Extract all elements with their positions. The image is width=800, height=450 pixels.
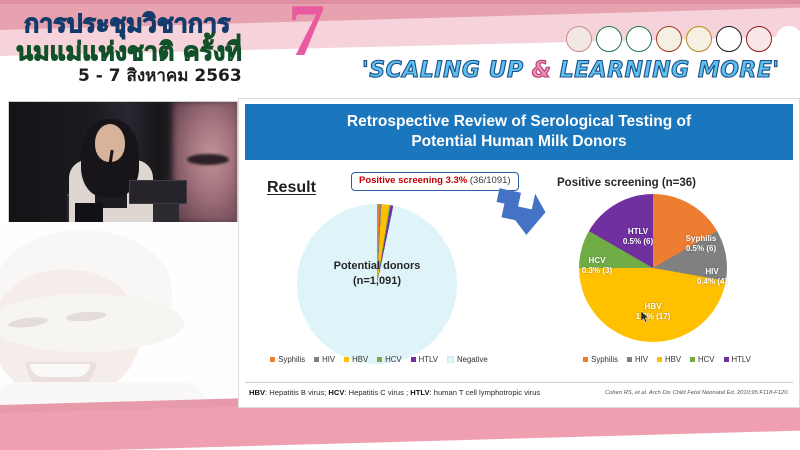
pie-label-hiv-name: HIV	[689, 267, 735, 277]
pie-label-syphilis-name: Syphilis	[673, 234, 729, 244]
legend-label-negative: Negative	[457, 355, 488, 364]
presentation-slide: Retrospective Review of Serological Test…	[238, 98, 800, 408]
pie-label-htlv-value: 0.5% (6)	[613, 237, 663, 247]
logo-medical-council	[746, 26, 772, 52]
potential-donors-legend: SyphilisHIVHBVHCVHTLVNegative	[263, 355, 495, 364]
pie-label-hcv: HCV 0.3% (3)	[575, 256, 619, 276]
donors-legend-item-syphilis: Syphilis	[270, 355, 305, 364]
logo-royal-emblem	[686, 26, 712, 52]
legend-swatch-hiv	[314, 357, 319, 362]
positive-legend-item-htlv: HTLV	[724, 355, 751, 364]
pie-label-hiv: HIV 0.4% (4)	[689, 267, 735, 287]
tagline-ampersand: &	[532, 58, 552, 83]
video-blurred-face-detail	[187, 154, 229, 165]
potential-donors-label-line1: Potential donors	[297, 259, 457, 274]
pie-label-hcv-name: HCV	[575, 256, 619, 266]
callout-sub-text: (36/1091)	[467, 175, 510, 186]
positive-legend-item-syphilis: Syphilis	[583, 355, 618, 364]
pie-label-htlv: HTLV 0.5% (6)	[613, 227, 663, 247]
donors-legend-item-negative: Negative	[447, 355, 488, 364]
logo-ministry-of-public-health	[596, 26, 622, 52]
positive-legend-item-hbv: HBV	[657, 355, 681, 364]
slide-footnote: HBV: Hepatitis B virus; HCV: Hepatitis C…	[245, 382, 793, 402]
logo-department-of-health	[626, 26, 652, 52]
donors-legend-item-htlv: HTLV	[411, 355, 438, 364]
slide-title-line1: Retrospective Review of Serological Test…	[347, 112, 691, 132]
legend-label-hiv: HIV	[322, 355, 335, 364]
result-heading: Result	[267, 179, 316, 197]
legend-label-hbv: HBV	[352, 355, 368, 364]
citation-note: Cohen RS, et al. Arch Dis Child Fetal Ne…	[605, 390, 789, 396]
positive-screening-chart-title: Positive screening (n=36)	[557, 177, 787, 189]
logo-thai-breastfeeding-foundation	[566, 26, 592, 52]
legend-label-syphilis: Syphilis	[591, 355, 618, 364]
legend-label-hcv: HCV	[385, 355, 401, 364]
mouse-cursor	[641, 311, 649, 323]
logo-nursing-council	[716, 26, 742, 52]
conference-tagline: 'SCALING UP & LEARNING MORE'	[362, 58, 780, 83]
slide-screenshot: การประชุมวิชาการ นมแม่แห่งชาติ ครั้งที่ …	[0, 0, 800, 450]
pie-label-hiv-value: 0.4% (4)	[689, 277, 735, 287]
legend-label-syphilis: Syphilis	[278, 355, 305, 364]
positive-legend-item-hcv: HCV	[690, 355, 714, 364]
potential-donors-center-label: Potential donors (n=1,091)	[297, 259, 457, 289]
tagline-part2: LEARNING MORE'	[551, 58, 779, 83]
photo-fade-overlay	[0, 222, 252, 427]
donors-legend-item-hcv: HCV	[377, 355, 401, 364]
legend-swatch-hiv	[627, 357, 632, 362]
baby-watermark-photo	[0, 222, 252, 427]
logo-royal-college	[656, 26, 682, 52]
speaker-video-inset[interactable]	[8, 101, 238, 223]
slide-title-banner: Retrospective Review of Serological Test…	[245, 104, 793, 160]
tagline-part1: 'SCALING UP	[362, 58, 532, 83]
slide-title-line2: Potential Human Milk Donors	[411, 132, 626, 152]
potential-donors-label-line2: (n=1,091)	[297, 274, 457, 289]
conference-header-banner: การประชุมวิชาการ นมแม่แห่งชาติ ครั้งที่ …	[0, 0, 800, 95]
pie-label-hbv-name: HBV	[627, 302, 679, 312]
legend-swatch-htlv	[411, 357, 416, 362]
conference-edition-number: 7	[288, 0, 325, 68]
positive-legend-item-hiv: HIV	[627, 355, 648, 364]
legend-label-htlv: HTLV	[419, 355, 438, 364]
podium-panel-shape	[75, 203, 103, 222]
legend-swatch-hcv	[690, 357, 695, 362]
legend-label-hcv: HCV	[698, 355, 714, 364]
legend-swatch-negative	[447, 356, 454, 363]
pie-label-syphilis: Syphilis 0.5% (6)	[673, 234, 729, 254]
laptop-shape	[129, 180, 187, 204]
legend-swatch-hcv	[377, 357, 382, 362]
pie-label-syphilis-value: 0.5% (6)	[673, 244, 729, 254]
donors-legend-item-hbv: HBV	[344, 355, 368, 364]
sponsor-logo-row	[566, 26, 800, 52]
legend-swatch-htlv	[724, 357, 729, 362]
pie-label-hbv-value: 1.6% (17)	[627, 312, 679, 322]
pie-label-htlv-name: HTLV	[613, 227, 663, 237]
abbreviation-note: HBV: Hepatitis B virus; HCV: Hepatitis C…	[249, 388, 540, 397]
pie-label-hcv-value: 0.3% (3)	[575, 266, 619, 276]
logo-thaihealth-sss	[776, 26, 800, 52]
legend-swatch-syphilis	[270, 357, 275, 362]
legend-label-hbv: HBV	[665, 355, 681, 364]
legend-label-htlv: HTLV	[732, 355, 751, 364]
blue-arrow-icon	[491, 187, 549, 237]
donors-legend-item-hiv: HIV	[314, 355, 335, 364]
legend-swatch-syphilis	[583, 357, 588, 362]
legend-label-hiv: HIV	[635, 355, 648, 364]
pie-label-hbv: HBV 1.6% (17)	[627, 302, 679, 322]
legend-swatch-hbv	[657, 357, 662, 362]
legend-swatch-hbv	[344, 357, 349, 362]
positive-screening-legend: SyphilisHIVHBVHCVHTLV	[551, 355, 783, 364]
callout-highlight-text: Positive screening 3.3%	[359, 175, 467, 186]
conference-date-thai: 5 - 7 สิงหาคม 2563	[78, 62, 242, 89]
